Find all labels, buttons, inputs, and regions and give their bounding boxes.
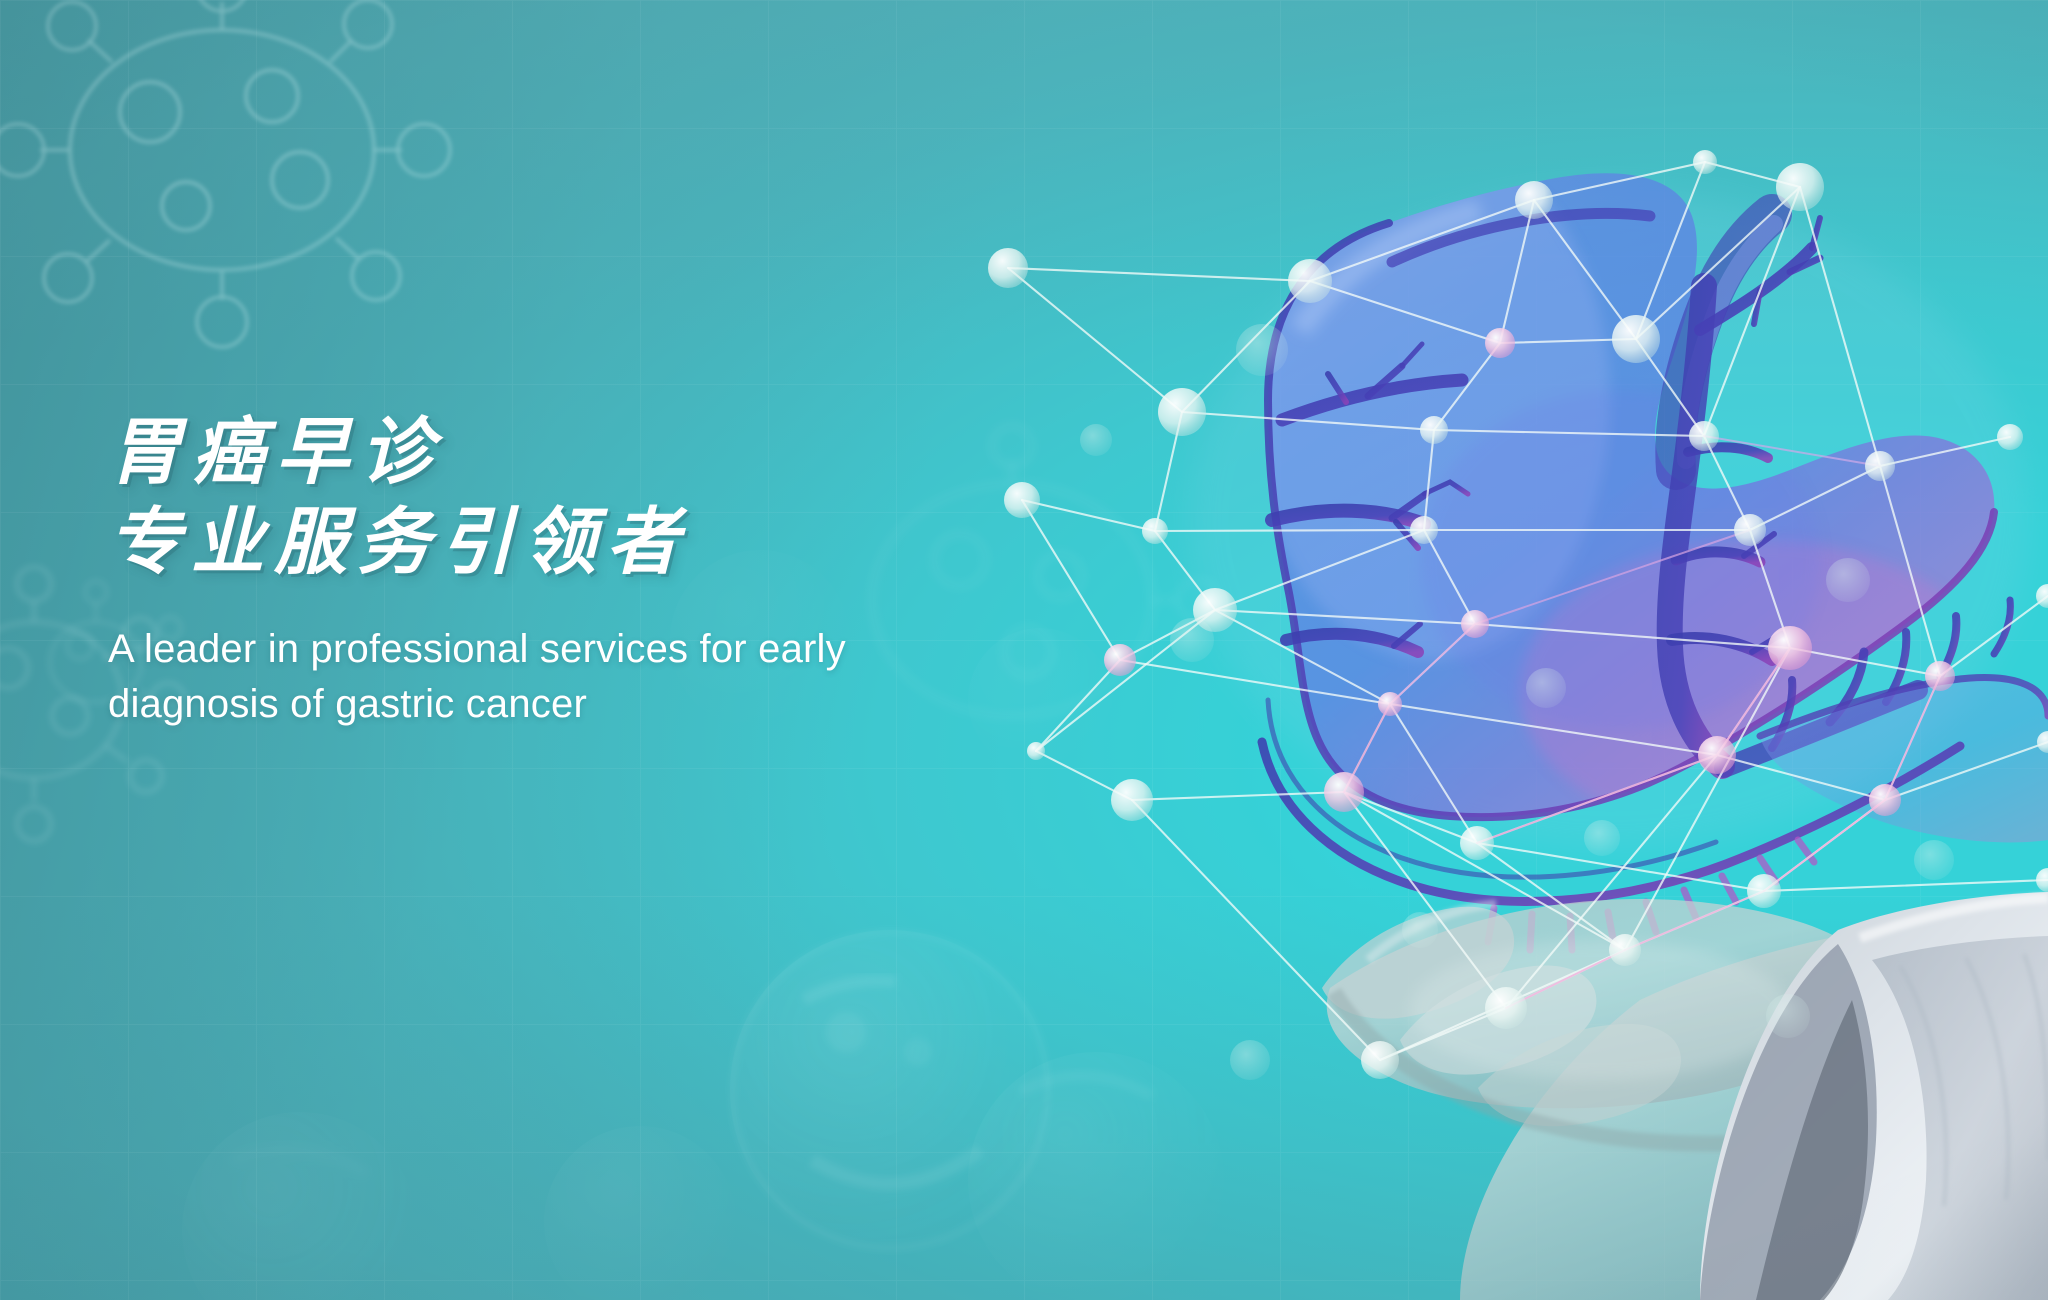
- hero-subtitle: A leader in professional services for ea…: [108, 622, 908, 732]
- subtitle-line-2: diagnosis of gastric cancer: [108, 677, 908, 732]
- headline-line-1: 胃癌早诊: [108, 408, 1108, 498]
- hero-copy-block: 胃癌早诊 专业服务引领者 A leader in professional se…: [108, 408, 1108, 732]
- subtitle-line-1: A leader in professional services for ea…: [108, 622, 908, 677]
- page-title: 胃癌早诊 专业服务引领者: [108, 408, 1108, 588]
- hero-banner: 胃癌早诊 专业服务引领者 A leader in professional se…: [0, 0, 2048, 1300]
- headline-line-2: 专业服务引领者: [108, 498, 1108, 588]
